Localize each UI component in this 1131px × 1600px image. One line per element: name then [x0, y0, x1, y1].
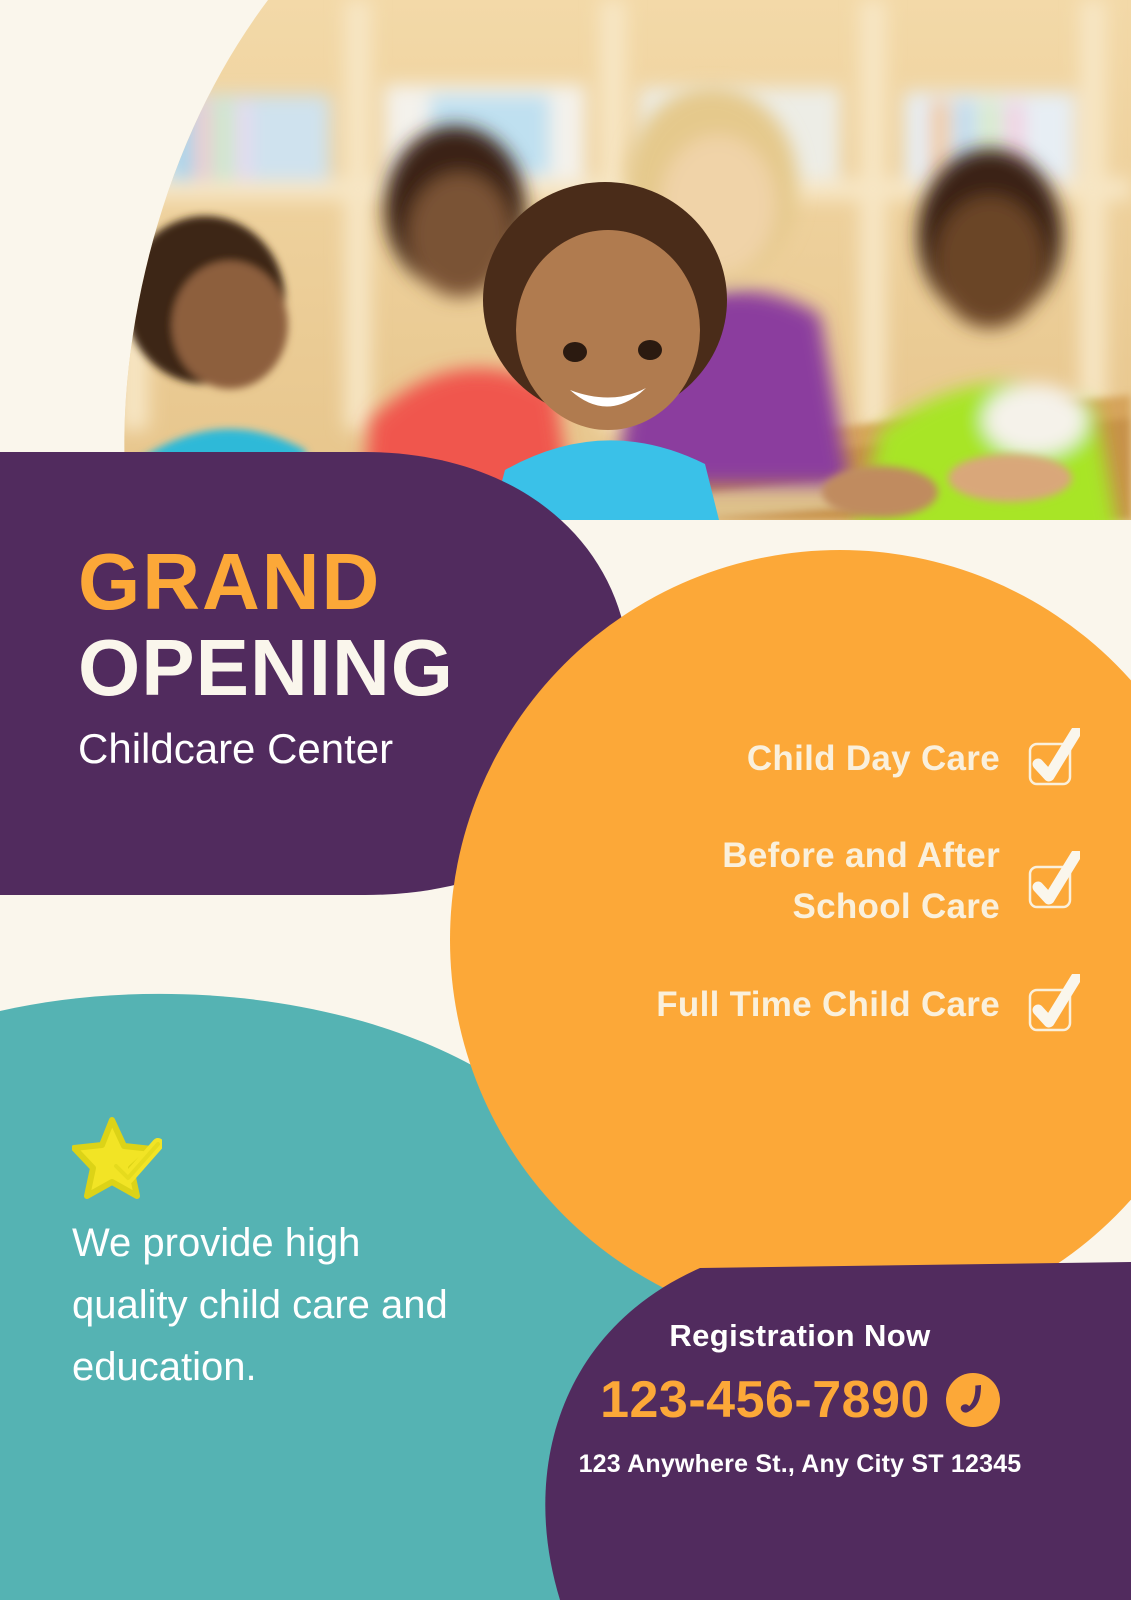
star-check-icon — [72, 1112, 162, 1200]
service-label: Full Time Child Care — [656, 979, 1000, 1030]
registration-label: Registration Now — [500, 1318, 1100, 1354]
headline-opening: OPENING — [78, 624, 598, 712]
phone-number[interactable]: 123-456-7890 — [600, 1370, 930, 1430]
service-label: Before and After School Care — [600, 830, 1000, 932]
service-item[interactable]: Before and After School Care — [520, 830, 1080, 932]
checkbox-checked-icon[interactable] — [1026, 851, 1080, 911]
checkbox-checked-icon[interactable] — [1026, 728, 1080, 788]
flyer-poster: GRAND OPENING Childcare Center Child Day… — [0, 0, 1131, 1600]
service-item[interactable]: Child Day Care — [520, 728, 1080, 788]
address-text: 123 Anywhere St., Any City ST 12345 — [500, 1450, 1100, 1479]
phone-row[interactable]: 123-456-7890 — [500, 1370, 1100, 1430]
checkbox-checked-icon[interactable] — [1026, 974, 1080, 1034]
phone-icon[interactable] — [946, 1373, 1000, 1427]
service-item[interactable]: Full Time Child Care — [520, 974, 1080, 1034]
services-list: Child Day Care Before and After School C… — [520, 728, 1080, 1076]
headline-grand: GRAND — [78, 540, 598, 624]
content-layer: GRAND OPENING Childcare Center Child Day… — [0, 0, 1131, 1600]
contact-block: Registration Now 123-456-7890 123 Anywhe… — [500, 1318, 1100, 1479]
service-label: Child Day Care — [747, 733, 1000, 784]
promise-text: We provide high quality child care and e… — [72, 1212, 472, 1398]
